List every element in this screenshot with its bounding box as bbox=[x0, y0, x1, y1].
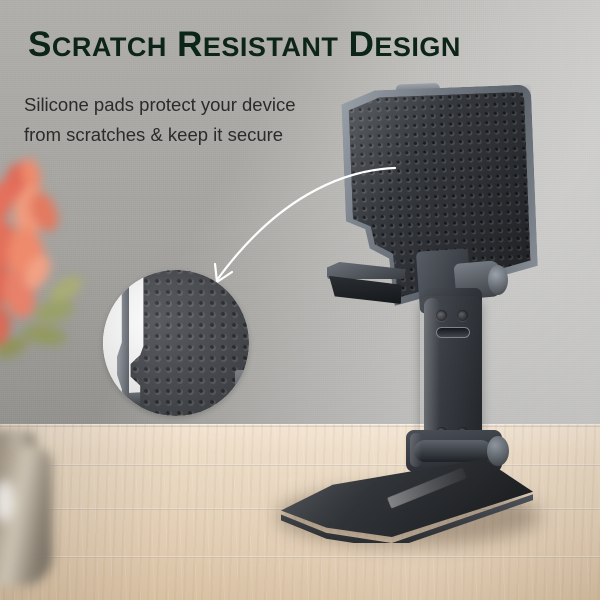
product-stand: TENDAK bbox=[0, 0, 600, 600]
column-dot bbox=[436, 310, 447, 321]
product-banner: SCRATCH RESISTANT DESIGN Silicone pads p… bbox=[0, 0, 600, 600]
column-dot bbox=[457, 310, 468, 321]
column-slot bbox=[436, 327, 470, 338]
magnifier-inner-shadow bbox=[103, 270, 249, 416]
magnifier-inset bbox=[103, 270, 249, 416]
lower-hinge-highlight bbox=[410, 433, 422, 467]
lower-hinge-cap bbox=[487, 436, 509, 466]
lower-hinge-bar bbox=[414, 440, 492, 462]
tilt-hinge-cap bbox=[488, 265, 508, 295]
